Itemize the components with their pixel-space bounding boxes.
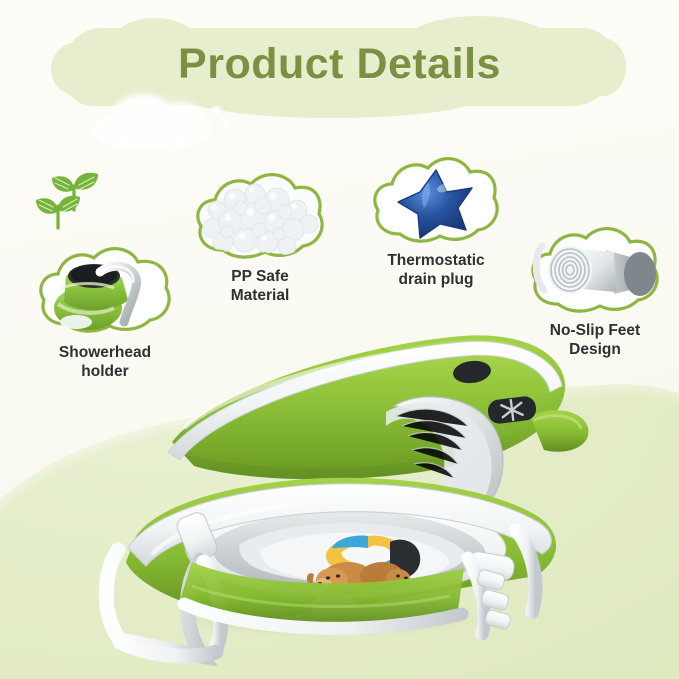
feature-label-line1: PP Safe (231, 268, 290, 287)
feature-label: PP Safe Material (231, 268, 290, 306)
badge-cloud (36, 238, 174, 338)
badge-cloud (528, 222, 662, 318)
cloud-dot-icon (212, 106, 221, 115)
feature-label-line1: No-Slip Feet (550, 322, 640, 341)
white-cloud-icon (92, 110, 210, 150)
feature-label-line1: Thermostatic (387, 252, 484, 271)
showerhead-holder-icon (36, 238, 174, 338)
cloud-shape-icon (193, 166, 327, 264)
feature-badge-thermostatic-drain-plug[interactable]: Thermostatic drain plug (370, 152, 502, 248)
blue-star-drain-plug-icon (370, 152, 502, 248)
feature-badge-no-slip-feet-design[interactable]: No-Slip Feet Design (528, 222, 662, 318)
feature-label-line2: Design (550, 341, 640, 360)
feature-badge-pp-safe-material[interactable]: PP Safe Material (193, 166, 327, 264)
feature-badge-showerhead-holder[interactable]: Showerhead holder (36, 238, 174, 338)
feature-label: No-Slip Feet Design (550, 322, 640, 360)
feature-label-line2: drain plug (387, 271, 484, 290)
sprout-leaves-icon (24, 166, 108, 248)
product-details-infographic: Product Details (0, 0, 679, 679)
cloud-dot-icon (222, 118, 229, 125)
feature-label: Thermostatic drain plug (387, 252, 484, 290)
no-slip-rubber-foot-icon (528, 222, 662, 318)
feature-label-line2: holder (59, 363, 151, 382)
badge-cloud (193, 166, 327, 264)
feature-label-line2: Material (231, 287, 290, 306)
badge-cloud (370, 152, 502, 248)
cloud-dot-icon (204, 121, 209, 126)
page-title: Product Details (0, 40, 679, 89)
feature-label-line1: Showerhead (59, 344, 151, 363)
feature-label: Showerhead holder (59, 344, 151, 382)
